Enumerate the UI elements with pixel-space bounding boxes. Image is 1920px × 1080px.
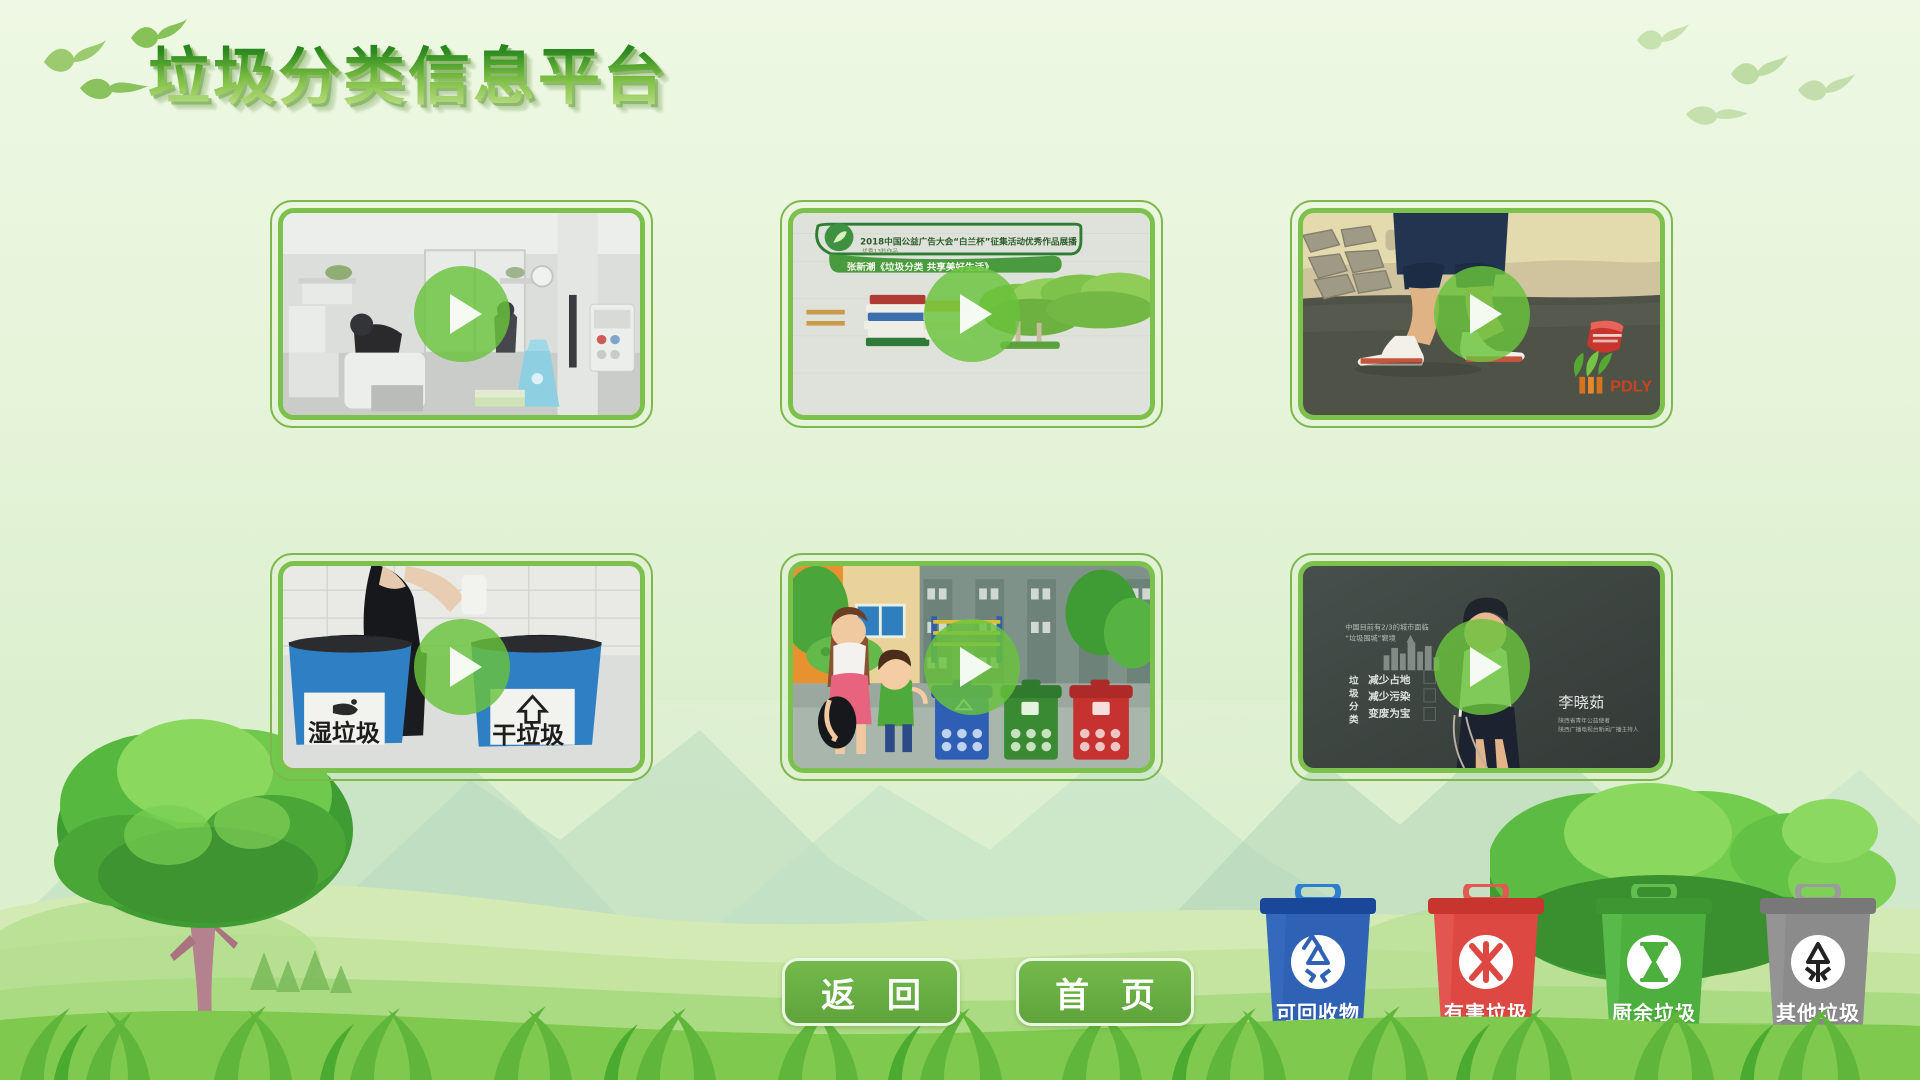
play-icon[interactable]	[414, 619, 510, 715]
svg-text:“垃圾围城”窘境: “垃圾围城”窘境	[1345, 634, 1396, 643]
svg-text:干垃圾: 干垃圾	[492, 721, 564, 749]
svg-text:陕西广播电视台新闻广播主持人: 陕西广播电视台新闻广播主持人	[1558, 726, 1639, 734]
svg-text:优秀13秒作品: 优秀13秒作品	[862, 247, 898, 255]
svg-text:减少占地: 减少占地	[1368, 673, 1411, 686]
back-button[interactable]: 返 回	[782, 958, 960, 1026]
svg-text:分: 分	[1349, 700, 1359, 712]
video-thumbnail-2[interactable]: 2018中国公益广告大会“白兰杯”征集活动优秀作品展播 优秀13秒作品 张新潮《…	[788, 208, 1155, 420]
video-thumbnail-4[interactable]: 湿垃圾 干垃圾	[278, 561, 645, 773]
play-icon[interactable]	[1434, 266, 1530, 362]
video-row-1: 2018中国公益广告大会“白兰杯”征集活动优秀作品展播 优秀13秒作品 张新潮《…	[0, 200, 1920, 460]
svg-text:类: 类	[1349, 714, 1359, 726]
svg-text:减少污染: 减少污染	[1368, 690, 1411, 703]
video-card-4[interactable]: 湿垃圾 干垃圾	[270, 553, 653, 781]
video-card-6[interactable]: 中国目前有2/3的城市面临 “垃圾围城”窘境 垃	[1290, 553, 1673, 781]
svg-text:李晓茹: 李晓茹	[1558, 694, 1604, 712]
svg-text:PDLY: PDLY	[1610, 378, 1652, 396]
svg-text:垃: 垃	[1349, 674, 1359, 686]
svg-text:陕西省青年公益使者: 陕西省青年公益使者	[1558, 716, 1610, 724]
svg-text:2018中国公益广告大会“白兰杯”征集活动优秀作品展播: 2018中国公益广告大会“白兰杯”征集活动优秀作品展播	[860, 237, 1077, 248]
play-icon[interactable]	[924, 266, 1020, 362]
video-thumbnail-5[interactable]	[788, 561, 1155, 773]
app-stage: 垃圾分类信息平台	[0, 0, 1920, 1080]
play-icon[interactable]	[414, 266, 510, 362]
video-row-2: 湿垃圾 干垃圾	[0, 553, 1920, 813]
page-title: 垃圾分类信息平台	[148, 26, 668, 116]
home-button[interactable]: 首 页	[1016, 958, 1194, 1026]
video-grid: 2018中国公益广告大会“白兰杯”征集活动优秀作品展播 优秀13秒作品 张新潮《…	[0, 200, 1920, 813]
video-thumbnail-3[interactable]: PDLY	[1298, 208, 1665, 420]
video-thumbnail-6[interactable]: 中国目前有2/3的城市面临 “垃圾围城”窘境 垃	[1298, 561, 1665, 773]
header: 垃圾分类信息平台	[0, 0, 1920, 130]
svg-text:圾: 圾	[1349, 687, 1359, 699]
video-card-1[interactable]	[270, 200, 653, 428]
svg-text:中国目前有2/3的城市面临: 中国目前有2/3的城市面临	[1345, 622, 1428, 631]
svg-text:变废为宝: 变废为宝	[1368, 707, 1410, 720]
video-thumbnail-1[interactable]	[278, 208, 645, 420]
svg-text:湿垃圾: 湿垃圾	[308, 719, 380, 747]
video-card-5[interactable]	[780, 553, 1163, 781]
play-icon[interactable]	[924, 619, 1020, 715]
video-card-2[interactable]: 2018中国公益广告大会“白兰杯”征集活动优秀作品展播 优秀13秒作品 张新潮《…	[780, 200, 1163, 428]
navigation-bar: 返 回 首 页	[0, 958, 1920, 1038]
play-icon[interactable]	[1434, 619, 1530, 715]
video-card-3[interactable]: PDLY	[1290, 200, 1673, 428]
